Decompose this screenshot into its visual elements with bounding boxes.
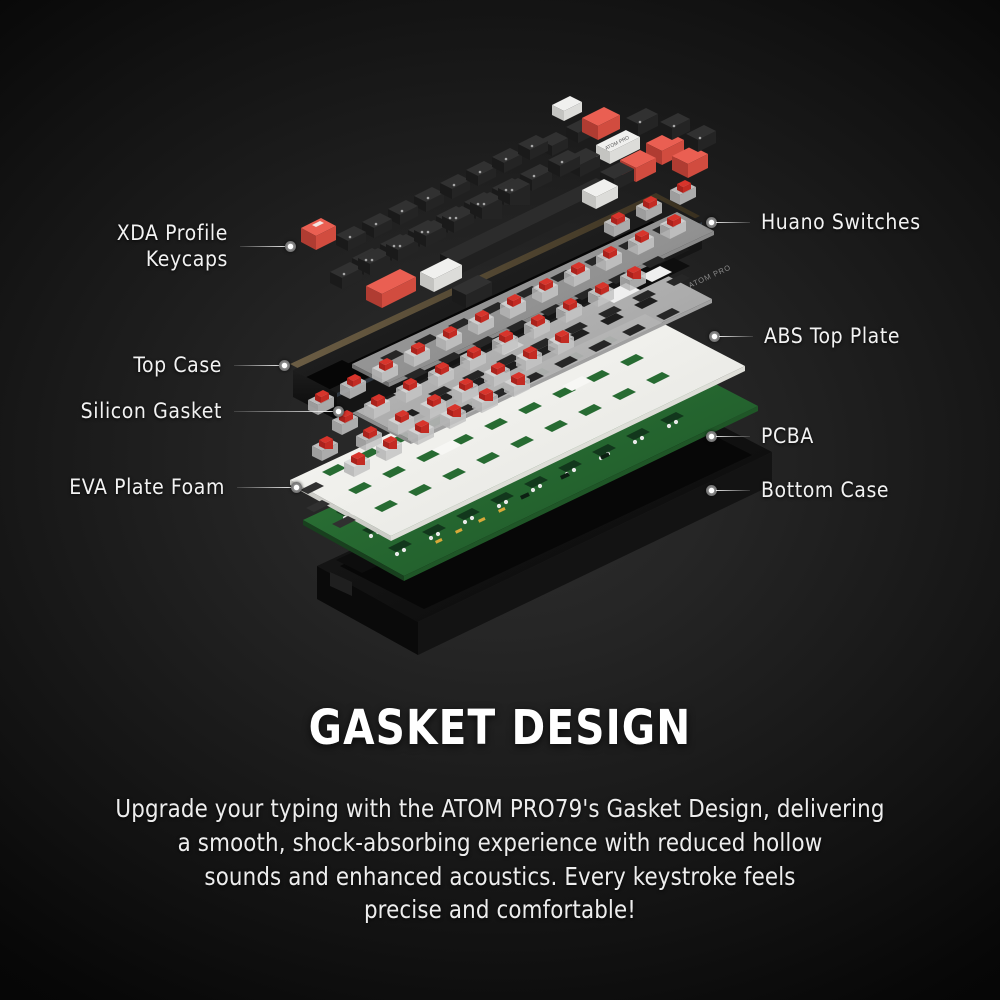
body-description: Upgrade your typing with the ATOM PRO79'… (15, 792, 985, 927)
infographic-canvas: ATOM PRO (0, 0, 1000, 1000)
copy-block: GASKET DESIGN Upgrade your typing with t… (0, 700, 1000, 952)
case-branding-text: ATOM PRO (687, 263, 732, 290)
exploded-keyboard-diagram: ATOM PRO (0, 0, 1000, 690)
page-title: GASKET DESIGN (30, 700, 970, 756)
